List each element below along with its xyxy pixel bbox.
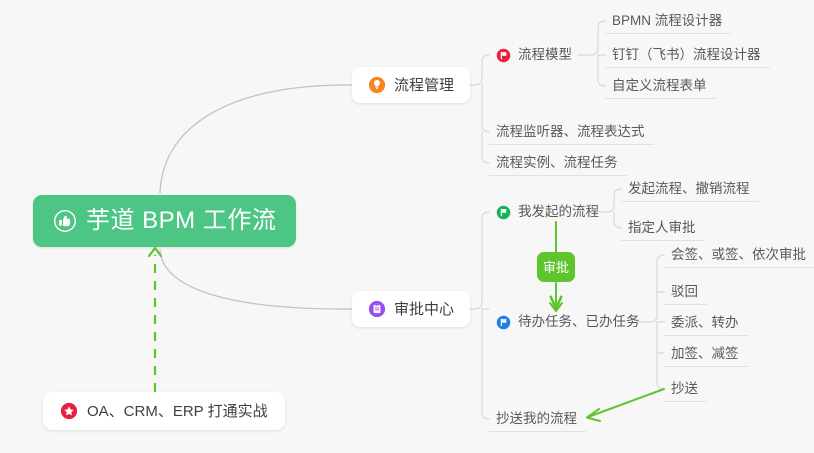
node-cc[interactable]: 抄送 [664,376,707,402]
edge-approval-center-bracket-bottom [482,309,489,419]
root-label: 芋道 BPM 工作流 [86,209,276,233]
integration-callout-label: OA、CRM、ERP 打通实战 [87,404,268,419]
node-process-model[interactable]: 流程模型 [489,42,581,68]
node-label-add-remove-sign: 加签、减签 [671,347,739,361]
flag-icon-green [496,205,511,220]
arrow-integration-head [149,248,161,256]
node-label-assignee-approval: 指定人审批 [628,221,696,235]
lightbulb-pin-icon [368,76,386,94]
node-label-todo-done-tasks: 待办任务、已办任务 [518,315,640,329]
flag-icon-blue [496,315,511,330]
node-label-listener-expression: 流程监听器、流程表达式 [496,125,645,139]
node-label-reject: 驳回 [671,285,698,299]
thumbs-up-icon [53,209,77,233]
integration-callout-node[interactable]: OA、CRM、ERP 打通实战 [43,392,285,430]
edge-todo-tasks-c5 [657,322,664,389]
edge-root-to-process-management [160,85,352,193]
node-dingtalk-feishu-designer[interactable]: 钉钉（飞书）流程设计器 [605,42,770,68]
node-label-cc: 抄送 [671,382,698,396]
arrow-cc-head [587,409,600,421]
node-delegate-transfer[interactable]: 委派、转办 [664,310,748,336]
node-label-cc-my-processes: 抄送我的流程 [496,412,577,426]
edge-my-processes-bracket-bottom [614,212,621,228]
node-assignee-approval[interactable]: 指定人审批 [621,215,705,241]
arrow-cc-to-cc-my-processes [588,389,664,417]
star-icon [60,402,78,420]
node-label-countersign-approval: 会签、或签、依次审批 [671,248,806,262]
node-add-remove-sign[interactable]: 加签、减签 [664,341,748,367]
node-label-delegate-transfer: 委派、转办 [671,316,739,330]
edge-root-to-approval-center [160,250,352,309]
node-label-start-cancel-process: 发起流程、撤销流程 [628,182,750,196]
edge-process-model-bracket-bottom [598,55,605,86]
approval-badge[interactable]: 审批 [537,252,575,282]
edge-process-management-spine [482,85,489,132]
node-label-custom-form: 自定义流程表单 [612,79,707,93]
node-bpmn-designer[interactable]: BPMN 流程设计器 [605,8,731,34]
edge-process-model-bracket-top [578,21,605,55]
root-node[interactable]: 芋道 BPM 工作流 [33,195,296,247]
node-label-dingtalk-feishu-designer: 钉钉（飞书）流程设计器 [612,48,761,62]
node-custom-form[interactable]: 自定义流程表单 [605,73,716,99]
node-countersign-approval[interactable]: 会签、或签、依次审批 [664,242,814,268]
node-label-instance-task: 流程实例、流程任务 [496,156,618,170]
node-label-bpmn-designer: BPMN 流程设计器 [612,14,722,28]
branch-node-process-management[interactable]: 流程管理 [352,67,470,103]
node-reject[interactable]: 驳回 [664,279,707,305]
edge-process-management-spine-2 [482,132,489,163]
node-instance-task[interactable]: 流程实例、流程任务 [489,150,627,176]
node-label-process-model: 流程模型 [518,48,572,62]
node-start-cancel-process[interactable]: 发起流程、撤销流程 [621,176,759,202]
branch-label-approval-center: 审批中心 [394,302,454,317]
branch-label-process-management: 流程管理 [394,78,454,93]
branch-node-approval-center[interactable]: 审批中心 [352,291,470,327]
node-todo-done-tasks[interactable]: 待办任务、已办任务 [489,309,649,335]
mindmap-canvas: 芋道 BPM 工作流 流程管理 流程模型 BPMN 流程设计器 钉钉（飞书）流 [0,0,814,453]
node-cc-my-processes[interactable]: 抄送我的流程 [489,406,586,432]
node-listener-expression[interactable]: 流程监听器、流程表达式 [489,119,654,145]
node-label-my-processes: 我发起的流程 [518,205,599,219]
approval-badge-label: 审批 [543,261,569,274]
clipboard-icon [368,300,386,318]
node-my-processes[interactable]: 我发起的流程 [489,199,608,225]
flag-icon-red [496,48,511,63]
